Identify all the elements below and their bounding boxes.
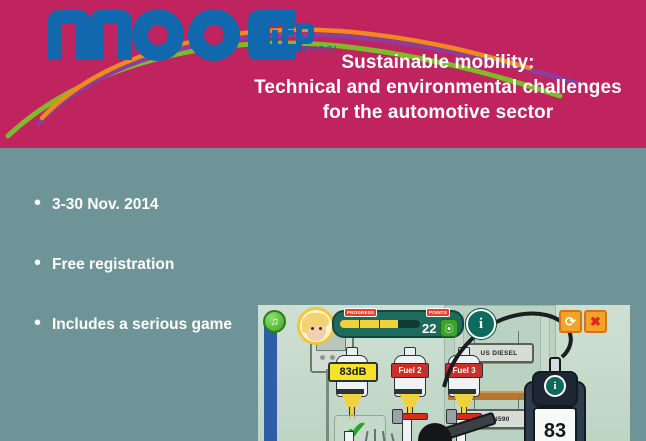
avatar[interactable] (297, 307, 335, 345)
progress-fill (340, 320, 398, 328)
avatar-hair-side (302, 318, 309, 333)
engine-wire (374, 429, 376, 441)
stat-bar: PROGRESS 22 POINTS ⦿ (332, 310, 464, 338)
title-line-2: Technical and environmental challenges (236, 75, 640, 100)
list-item: • Free registration (34, 254, 249, 275)
bullet-dot-icon: • (34, 254, 52, 273)
bullet-text: Free registration (52, 254, 174, 275)
list-item: • 3-30 Nov. 2014 (34, 194, 249, 215)
body-area: • 3-30 Nov. 2014 • Free registration • I… (0, 148, 646, 441)
sound-level-meter[interactable]: i 83 (524, 363, 582, 441)
game-hud: ♫ (258, 305, 630, 339)
cabinet-knob (330, 355, 335, 360)
bullet-dot-icon: • (34, 314, 52, 333)
sound-toggle-icon[interactable]: ♫ (263, 310, 286, 333)
points-value: 22 (422, 321, 436, 336)
reload-icon[interactable]: ⟳ (559, 310, 582, 333)
valve-handle-2[interactable] (402, 413, 428, 420)
meter-reading-display: 83 (533, 407, 577, 441)
fuel-bottle-1[interactable]: 83dB (336, 347, 366, 421)
bullet-text: 3-30 Nov. 2014 (52, 194, 159, 215)
bullet-text: Includes a serious game (52, 314, 232, 335)
meter-info-icon[interactable]: i (544, 375, 566, 397)
title-line-3: for the automotive sector (236, 100, 640, 125)
fuel-label: Fuel 2 (391, 363, 429, 378)
progress-badge: PROGRESS (344, 308, 377, 317)
title-line-1: Sustainable mobility: (236, 50, 640, 75)
avatar-eye (319, 327, 322, 330)
db-reading-label: 83dB (328, 362, 378, 382)
fuel-pipe-vertical (344, 431, 354, 441)
poster-title: Sustainable mobility: Technical and envi… (236, 50, 640, 125)
info-icon[interactable]: i (466, 309, 496, 339)
bullet-dot-icon: • (34, 194, 52, 213)
bullet-list: • 3-30 Nov. 2014 • Free registration • I… (34, 194, 249, 374)
avatar-eye (311, 327, 314, 330)
serious-game-screenshot[interactable]: US DIESEL EN590 PREMIUM DIESEL 83dB (258, 305, 630, 441)
progress-track (340, 320, 420, 328)
points-badge: POINTS (426, 308, 450, 317)
leaf-icon: ⦿ (440, 319, 458, 337)
close-icon[interactable]: ✖ (584, 310, 607, 333)
list-item: • Includes a serious game (34, 314, 249, 335)
poster-root: SCHOOL Sustainable mobility: Technical a… (0, 0, 646, 441)
tested-indicator: ✔ TESTED (334, 415, 386, 441)
header-banner: SCHOOL Sustainable mobility: Technical a… (0, 0, 646, 148)
sign-chain (518, 397, 519, 409)
